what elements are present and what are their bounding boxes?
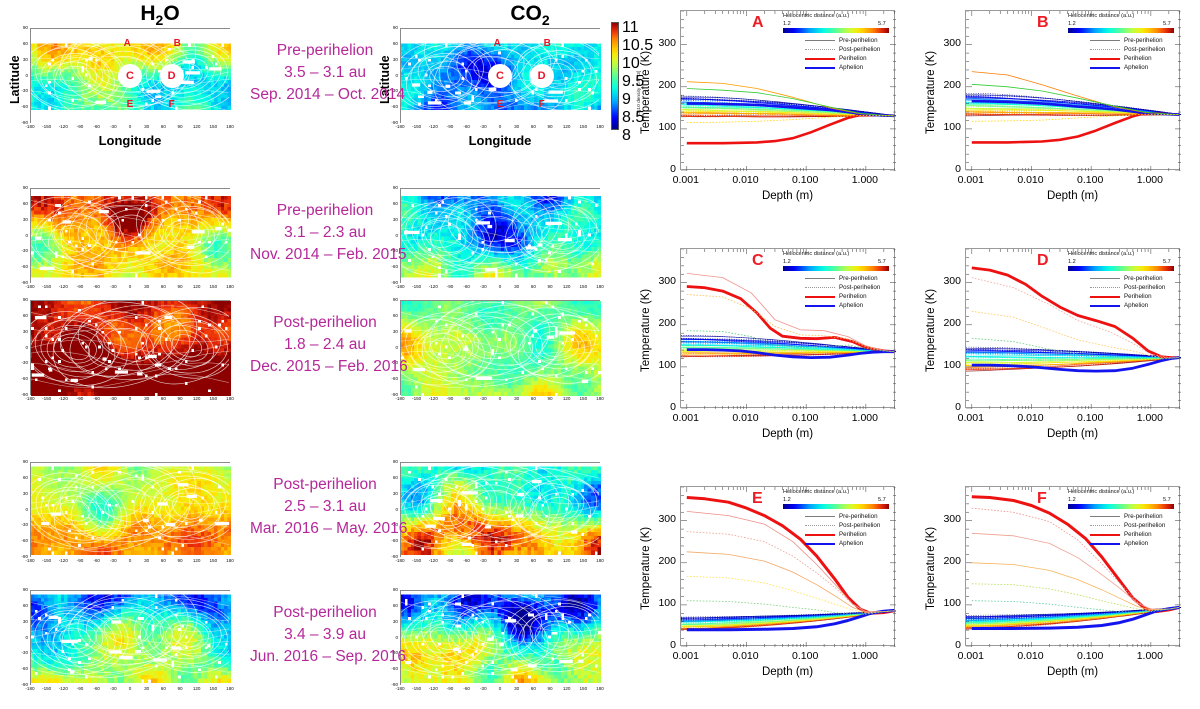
map-xtick: 0 [121, 558, 139, 563]
map-xtick: 120 [558, 686, 576, 691]
temp-ytick: 200 [650, 555, 676, 567]
map-xtick: -120 [424, 284, 442, 289]
legend-swatch-perihelion [1090, 534, 1120, 536]
map-xtick: 0 [491, 558, 509, 563]
legend-label-pre-perihelion: Pre-perihelion [839, 513, 878, 520]
map-xtick: -30 [104, 396, 122, 401]
map-ytick: 90 [16, 25, 28, 30]
map-xtick: -120 [54, 558, 72, 563]
caption-line-phase: Post-perihelion [250, 312, 400, 334]
density-colorbar [611, 22, 619, 130]
legend-label-post-perihelion: Post-perihelion [1124, 284, 1165, 291]
legend-swatch-post-perihelion [1090, 287, 1120, 288]
map-xtick: -90 [441, 396, 459, 401]
temp-yaxis-label: Temperature (K) [925, 527, 937, 610]
map-xaxis-label: Longitude [400, 133, 600, 148]
map-xtick: 30 [508, 686, 526, 691]
temp-xtick: 0.010 [1008, 174, 1052, 186]
map-ytick: 30 [16, 619, 28, 624]
map-xtick: 60 [154, 124, 172, 129]
map-ytick: 90 [386, 587, 398, 592]
map-ytick: -30 [16, 360, 28, 365]
region-marker-b: B [539, 36, 555, 52]
legend-label-perihelion: Perihelion [839, 293, 867, 300]
legend-label-pre-perihelion: Pre-perihelion [1124, 513, 1163, 520]
legend-label-post-perihelion: Post-perihelion [1124, 46, 1165, 53]
map-xtick: 30 [138, 284, 156, 289]
map-xtick: 0 [491, 284, 509, 289]
plot-area [965, 10, 1180, 170]
legend-label-perihelion: Perihelion [839, 55, 867, 62]
legend-swatch-pre-perihelion [1090, 278, 1120, 279]
map-xtick: -120 [424, 686, 442, 691]
legend-swatch-perihelion [1090, 58, 1120, 60]
map-xaxis-label: Longitude [30, 133, 230, 148]
map-ytick: 0 [16, 507, 28, 512]
legend-title: Heliocentric distance (a.u.) [1068, 489, 1134, 495]
row-caption-row1: Pre-perihelion3.5 – 3.1 auSep. 2014 – Oc… [250, 40, 400, 106]
legend-swatch-perihelion [1090, 296, 1120, 298]
temp-xtick: 0.001 [664, 174, 708, 186]
shape-contour-overlay [401, 301, 599, 394]
map-ytick: -60 [16, 538, 28, 543]
map-ytick: -60 [16, 666, 28, 671]
legend-colorbar [1068, 266, 1174, 271]
map-xtick: -150 [38, 396, 56, 401]
map-xtick: -30 [474, 558, 492, 563]
map-xtick: -90 [71, 558, 89, 563]
map-xtick: 120 [188, 558, 206, 563]
legend-min-value: 1.2 [1068, 497, 1076, 503]
temp-ytick: 300 [650, 513, 676, 525]
legend-label-pre-perihelion: Pre-perihelion [1124, 275, 1163, 282]
map-xtick: 0 [121, 396, 139, 401]
legend-swatch-post-perihelion [805, 287, 835, 288]
map-plot-area [400, 300, 600, 395]
map-xtick: -30 [474, 686, 492, 691]
region-marker-b: B [169, 36, 185, 52]
panel-letter-c: C [752, 252, 764, 270]
temp-xaxis-label: Depth (m) [965, 666, 1180, 678]
map-xtick: 180 [221, 686, 239, 691]
legend-label-pre-perihelion: Pre-perihelion [839, 275, 878, 282]
map-xtick: 180 [591, 558, 609, 563]
region-marker-a: A [489, 36, 505, 52]
map-xtick: -150 [408, 686, 426, 691]
legend-label-perihelion: Perihelion [1124, 293, 1152, 300]
legend-max-value: 5.7 [878, 21, 886, 27]
map-xtick: 30 [138, 124, 156, 129]
legend-swatch-post-perihelion [1090, 49, 1120, 50]
map-ytick: 90 [386, 185, 398, 190]
map-xtick: -120 [54, 396, 72, 401]
curve-pre-perihelion-mid [687, 552, 895, 613]
map-xtick: 90 [541, 396, 559, 401]
map-xtick: 30 [138, 686, 156, 691]
map-ytick: 90 [16, 297, 28, 302]
column-title-h2o: H2O [60, 2, 260, 28]
map-xtick: -150 [408, 124, 426, 129]
plot-area [965, 248, 1180, 408]
map-plot-area [30, 188, 230, 283]
map-xtick: 90 [171, 124, 189, 129]
map-xtick: 150 [574, 396, 592, 401]
caption-line-distance: 3.5 – 3.1 au [250, 62, 400, 84]
map-xtick: 60 [154, 686, 172, 691]
legend-label-aphelion: Aphelion [839, 64, 863, 71]
temperature-curves-svg [966, 11, 1181, 171]
map-xtick: -150 [408, 558, 426, 563]
legend-colorbar [783, 266, 889, 271]
map-xtick: -150 [38, 284, 56, 289]
temp-xaxis-label: Depth (m) [680, 428, 895, 440]
map-xtick: 90 [541, 558, 559, 563]
legend-swatch-pre-perihelion [805, 278, 835, 279]
map-xtick: 180 [591, 396, 609, 401]
temp-xtick: 1.000 [1128, 174, 1172, 186]
colorbar-tick: 11 [622, 19, 639, 37]
panel-letter-e: E [752, 490, 763, 508]
map-xtick: 150 [574, 124, 592, 129]
temp-ytick: 100 [935, 121, 961, 133]
legend-max-value: 5.7 [878, 497, 886, 503]
map-xtick: -150 [38, 686, 56, 691]
shape-contour-overlay [31, 463, 229, 556]
map-xtick: 150 [204, 284, 222, 289]
map-plot-area [30, 300, 230, 395]
temp-xtick: 1.000 [843, 174, 887, 186]
map-xtick: 60 [524, 124, 542, 129]
plot-area [965, 486, 1180, 646]
map-xtick: 60 [154, 396, 172, 401]
panel-letter-b: B [1037, 14, 1049, 32]
legend-label-perihelion: Perihelion [839, 531, 867, 538]
row-caption-row4: Post-perihelion2.5 – 3.1 auMar. 2016 – M… [250, 474, 400, 540]
curve-post-perihelion-low [687, 576, 895, 613]
temp-xtick: 0.001 [664, 650, 708, 662]
region-marker-a: A [119, 36, 135, 52]
map-xtick: -150 [38, 558, 56, 563]
map-ytick: 90 [16, 587, 28, 592]
map-xtick: 30 [508, 124, 526, 129]
legend-min-value: 1.2 [1068, 259, 1076, 265]
caption-line-distance: 1.8 – 2.4 au [250, 334, 400, 356]
map-xtick: 150 [204, 124, 222, 129]
temperature-curves-svg [681, 249, 896, 409]
temp-xtick: 0.010 [1008, 650, 1052, 662]
temp-xtick: 0.001 [664, 412, 708, 424]
map-ytick: 60 [16, 475, 28, 480]
caption-line-phase: Pre-perihelion [250, 200, 400, 222]
map-ytick: 60 [16, 41, 28, 46]
map-xtick: 30 [138, 558, 156, 563]
map-xtick: 120 [188, 396, 206, 401]
map-xtick: 90 [541, 686, 559, 691]
map-xtick: 120 [558, 558, 576, 563]
map-plot-area [30, 590, 230, 685]
temp-ytick: 100 [935, 597, 961, 609]
map-xtick: 120 [558, 396, 576, 401]
map-ytick: -30 [16, 522, 28, 527]
map-ytick: 90 [386, 297, 398, 302]
legend-label-perihelion: Perihelion [1124, 55, 1152, 62]
temp-xtick: 1.000 [1128, 412, 1172, 424]
region-marker-f: F [164, 97, 180, 113]
temp-ytick: 200 [650, 79, 676, 91]
temp-xtick: 0.010 [723, 650, 767, 662]
plot-area [680, 248, 895, 408]
temp-xtick: 0.001 [949, 174, 993, 186]
shape-contour-overlay [31, 301, 229, 394]
temp-xaxis-label: Depth (m) [680, 666, 895, 678]
map-xtick: -60 [88, 396, 106, 401]
map-xtick: 90 [171, 396, 189, 401]
map-plot-area [30, 462, 230, 557]
temp-yaxis-label: Temperature (K) [640, 527, 652, 610]
caption-line-dates: Sep. 2014 – Oct. 2014 [250, 84, 400, 106]
map-xtick: 150 [574, 686, 592, 691]
caption-line-dates: Nov. 2014 – Feb. 2015 [250, 244, 400, 266]
map-ytick: 60 [16, 603, 28, 608]
caption-line-dates: Jun. 2016 – Sep. 2016 [250, 646, 400, 668]
map-ytick: 90 [16, 185, 28, 190]
map-xtick: -30 [104, 124, 122, 129]
colorbar-tick: 8 [622, 127, 631, 145]
map-ytick: 90 [16, 459, 28, 464]
map-xtick: -90 [71, 686, 89, 691]
map-xtick: 60 [524, 284, 542, 289]
map-xtick: 90 [171, 558, 189, 563]
legend-swatch-pre-perihelion [1090, 516, 1120, 517]
map-xtick: -30 [104, 558, 122, 563]
shape-contour-overlay [401, 463, 599, 556]
region-marker-d: D [530, 64, 554, 88]
temp-ytick: 100 [935, 359, 961, 371]
map-ytick: 0 [16, 233, 28, 238]
region-marker-c: C [488, 64, 512, 88]
temp-xaxis-label: Depth (m) [680, 190, 895, 202]
curve-pre-perihelion-envelope-high [972, 72, 1180, 115]
legend-max-value: 5.7 [1163, 21, 1171, 27]
map-xtick: -30 [474, 396, 492, 401]
map-xtick: -60 [458, 558, 476, 563]
legend-label-post-perihelion: Post-perihelion [839, 46, 880, 53]
legend-min-value: 1.2 [783, 259, 791, 265]
map-xtick: 60 [524, 686, 542, 691]
map-xtick: -180 [21, 124, 39, 129]
temp-xtick: 0.100 [1068, 650, 1112, 662]
caption-line-distance: 3.1 – 2.3 au [250, 222, 400, 244]
legend-swatch-pre-perihelion [805, 516, 835, 517]
caption-line-phase: Pre-perihelion [250, 40, 400, 62]
map-ytick: 30 [16, 329, 28, 334]
map-xtick: 90 [171, 686, 189, 691]
map-xtick: -180 [391, 396, 409, 401]
temp-ytick: 300 [650, 275, 676, 287]
map-ytick: 0 [16, 345, 28, 350]
curve-perihelion [687, 115, 895, 143]
temp-ytick: 200 [650, 317, 676, 329]
map-xtick: 150 [574, 558, 592, 563]
map-ytick: -60 [16, 376, 28, 381]
map-ytick: -30 [16, 248, 28, 253]
map-xtick: -180 [391, 284, 409, 289]
temp-xaxis-label: Depth (m) [965, 190, 1180, 202]
map-xtick: -30 [474, 284, 492, 289]
map-xtick: -120 [54, 124, 72, 129]
map-xtick: 0 [121, 284, 139, 289]
map-xtick: -180 [391, 686, 409, 691]
map-xtick: -90 [441, 558, 459, 563]
map-xtick: 0 [491, 396, 509, 401]
legend-colorbar [783, 504, 889, 509]
map-ytick: 60 [16, 313, 28, 318]
map-xtick: -60 [88, 284, 106, 289]
legend-title: Heliocentric distance (a.u.) [783, 251, 849, 257]
legend-min-value: 1.2 [1068, 21, 1076, 27]
legend-max-value: 5.7 [1163, 497, 1171, 503]
legend-swatch-pre-perihelion [805, 40, 835, 41]
region-marker-d: D [160, 64, 184, 88]
curve-pre-perihelion-mid [972, 533, 1180, 609]
region-marker-f: F [534, 97, 550, 113]
temp-ytick: 100 [650, 359, 676, 371]
map-xtick: 180 [591, 686, 609, 691]
legend-swatch-aphelion [805, 67, 835, 69]
temperature-curves-svg [966, 487, 1181, 647]
caption-line-phase: Post-perihelion [250, 602, 400, 624]
curve-pre-perihelion-low [972, 563, 1180, 610]
map-ytick: 60 [16, 201, 28, 206]
temp-yaxis-label: Temperature (K) [925, 289, 937, 372]
curve-post-perihelion-lowest [687, 601, 895, 615]
legend-swatch-post-perihelion [805, 525, 835, 526]
map-ytick: 30 [16, 217, 28, 222]
temp-xtick: 0.010 [723, 174, 767, 186]
map-xtick: 0 [121, 686, 139, 691]
map-plot-area [400, 188, 600, 283]
map-xtick: -90 [441, 284, 459, 289]
map-xtick: 150 [204, 396, 222, 401]
legend-title: Heliocentric distance (a.u.) [1068, 13, 1134, 19]
map-xtick: -30 [474, 124, 492, 129]
map-xtick: -120 [54, 686, 72, 691]
map-xtick: -120 [424, 558, 442, 563]
temp-ytick: 300 [935, 37, 961, 49]
temp-xtick: 0.001 [949, 650, 993, 662]
temp-xtick: 0.100 [783, 412, 827, 424]
legend-max-value: 5.7 [878, 259, 886, 265]
map-xtick: -180 [21, 558, 39, 563]
shape-contour-overlay [401, 189, 599, 282]
map-xtick: 30 [508, 558, 526, 563]
caption-line-phase: Post-perihelion [250, 474, 400, 496]
map-plot-area [400, 590, 600, 685]
legend-label-aphelion: Aphelion [839, 302, 863, 309]
legend-label-aphelion: Aphelion [839, 540, 863, 547]
map-xtick: -150 [408, 396, 426, 401]
legend-title: Heliocentric distance (a.u.) [783, 489, 849, 495]
map-xtick: -150 [38, 124, 56, 129]
temp-xtick: 1.000 [1128, 650, 1172, 662]
map-xtick: 30 [138, 396, 156, 401]
map-xtick: 60 [524, 396, 542, 401]
legend-title: Heliocentric distance (a.u.) [1068, 251, 1134, 257]
map-xtick: -30 [104, 284, 122, 289]
legend-label-post-perihelion: Post-perihelion [1124, 522, 1165, 529]
temp-ytick: 300 [650, 37, 676, 49]
map-xtick: 60 [154, 284, 172, 289]
caption-line-dates: Dec. 2015 – Feb. 2016 [250, 356, 400, 378]
map-xtick: 60 [154, 558, 172, 563]
legend-label-perihelion: Perihelion [1124, 531, 1152, 538]
map-xtick: 30 [508, 396, 526, 401]
legend-swatch-aphelion [805, 543, 835, 545]
legend-swatch-aphelion [1090, 305, 1120, 307]
map-xtick: 180 [221, 124, 239, 129]
legend-colorbar [783, 28, 889, 33]
panel-letter-d: D [1037, 252, 1049, 270]
temp-ytick: 300 [935, 513, 961, 525]
map-xtick: 60 [524, 558, 542, 563]
column-title-co2: CO2 [430, 2, 630, 28]
map-ytick: 90 [386, 459, 398, 464]
map-xtick: -120 [424, 396, 442, 401]
legend-label-aphelion: Aphelion [1124, 540, 1148, 547]
map-xtick: 120 [558, 124, 576, 129]
temp-ytick: 200 [935, 317, 961, 329]
caption-line-distance: 3.4 – 3.9 au [250, 624, 400, 646]
temp-xtick: 0.100 [783, 174, 827, 186]
temp-yaxis-label: Temperature (K) [925, 51, 937, 134]
temperature-curves-svg [966, 249, 1181, 409]
legend-max-value: 5.7 [1163, 259, 1171, 265]
map-xtick: 120 [188, 686, 206, 691]
map-xtick: 0 [491, 686, 509, 691]
map-ytick: -60 [16, 104, 28, 109]
legend-swatch-perihelion [805, 58, 835, 60]
shape-contour-overlay [31, 189, 229, 282]
temp-xtick: 0.100 [1068, 412, 1112, 424]
map-xtick: -90 [441, 686, 459, 691]
legend-swatch-pre-perihelion [1090, 40, 1120, 41]
region-marker-c: C [118, 64, 142, 88]
temp-xtick: 0.001 [949, 412, 993, 424]
temp-ytick: 200 [935, 555, 961, 567]
temp-xtick: 1.000 [843, 650, 887, 662]
map-xtick: 0 [121, 124, 139, 129]
plot-area [680, 486, 895, 646]
temp-yaxis-label: Temperature (K) [640, 289, 652, 372]
legend-title: Heliocentric distance (a.u.) [783, 13, 849, 19]
map-xtick: -150 [408, 284, 426, 289]
temp-ytick: 200 [935, 79, 961, 91]
map-xtick: -90 [71, 124, 89, 129]
map-xtick: 30 [508, 284, 526, 289]
map-ytick: -60 [16, 264, 28, 269]
map-xtick: -120 [424, 124, 442, 129]
shape-contour-overlay [401, 591, 599, 684]
temperature-curves-svg [681, 11, 896, 171]
map-xtick: -30 [104, 686, 122, 691]
map-xtick: 180 [221, 396, 239, 401]
map-xtick: -120 [54, 284, 72, 289]
legend-swatch-aphelion [1090, 543, 1120, 545]
map-yaxis-label: Latitude [8, 55, 22, 104]
shape-contour-overlay [31, 591, 229, 684]
map-ytick: -30 [16, 650, 28, 655]
temp-ytick: 100 [650, 121, 676, 133]
